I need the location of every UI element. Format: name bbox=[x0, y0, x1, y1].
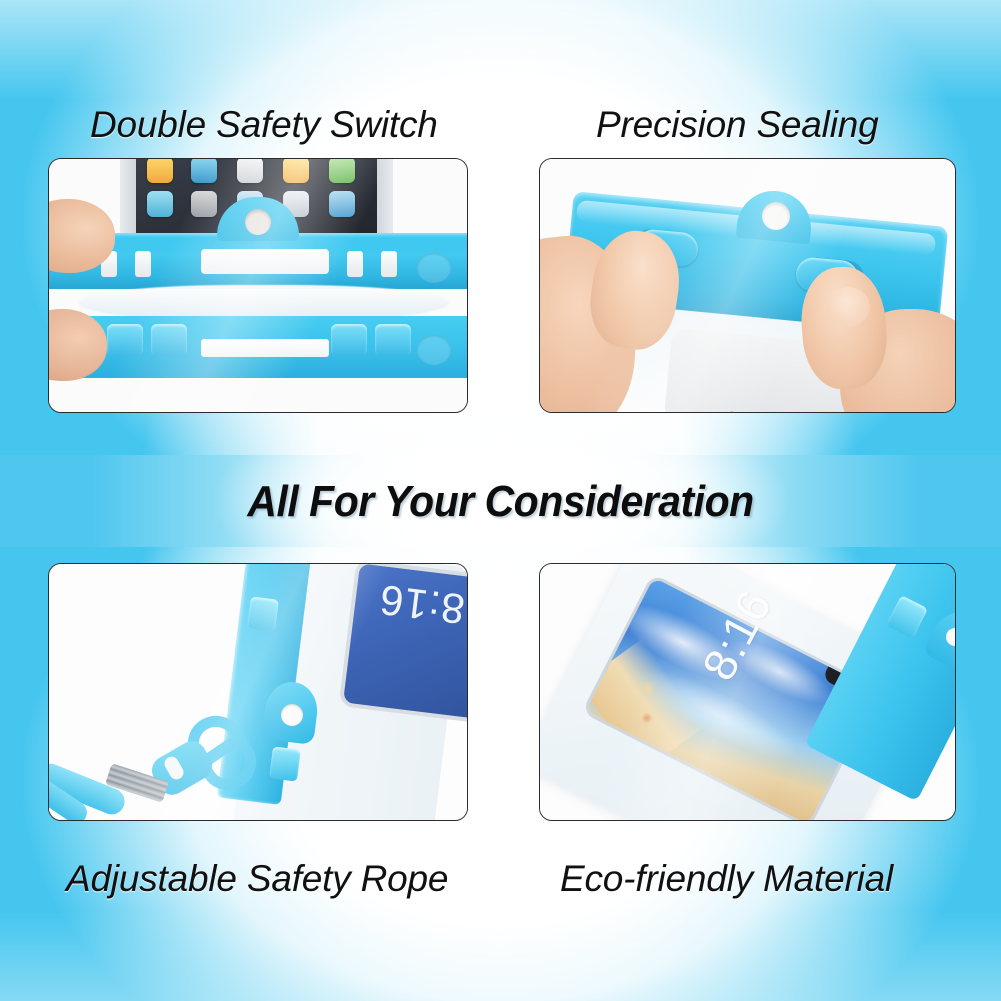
caption-precision-sealing: Precision Sealing bbox=[596, 104, 878, 146]
app-icon bbox=[329, 191, 355, 217]
app-icon bbox=[329, 159, 355, 183]
lock-notch bbox=[347, 251, 363, 277]
photo-sealed-clamp bbox=[540, 159, 955, 412]
photo-pouch-with-phone: 8:16 bbox=[540, 564, 955, 820]
caption-eco-friendly-material: Eco-friendly Material bbox=[560, 858, 893, 900]
lock-button-lower[interactable] bbox=[269, 746, 301, 781]
caption-double-safety-switch: Double Safety Switch bbox=[90, 104, 438, 146]
app-icon bbox=[147, 159, 173, 183]
safety-lock-right bbox=[331, 324, 367, 356]
safety-lock-left-2 bbox=[151, 324, 187, 356]
lock-notch bbox=[135, 251, 151, 277]
photo-panel-eco-friendly-material: 8:16 bbox=[539, 563, 956, 821]
app-icon bbox=[191, 159, 217, 183]
app-icon bbox=[283, 159, 309, 183]
photo-panel-double-safety-switch bbox=[48, 158, 468, 413]
safety-lock-left bbox=[107, 324, 143, 356]
phone-clock: 8:16 bbox=[376, 575, 467, 633]
background-bottom-veil bbox=[0, 911, 1001, 1001]
collage-page: Double Safety Switch Precision Sealing bbox=[0, 0, 1001, 1001]
hanger-hole bbox=[281, 704, 303, 726]
app-icon bbox=[147, 191, 173, 217]
app-icon bbox=[191, 191, 217, 217]
safety-lock-right-2 bbox=[375, 324, 411, 356]
upper-seal-bar bbox=[201, 249, 329, 274]
clamp-pivot-recess bbox=[417, 253, 451, 283]
photo-open-clamp bbox=[49, 159, 467, 412]
lower-seal-bar bbox=[201, 339, 329, 357]
caption-adjustable-safety-rope: Adjustable Safety Rope bbox=[66, 858, 448, 900]
lock-button-upper[interactable] bbox=[247, 596, 279, 631]
speaker-dot bbox=[730, 411, 734, 412]
lock-notch bbox=[381, 251, 397, 277]
photo-panel-precision-sealing bbox=[539, 158, 956, 413]
app-icon bbox=[237, 159, 263, 183]
photo-panel-adjustable-safety-rope: 8:16 bbox=[48, 563, 468, 821]
section-banner: All For Your Consideration bbox=[0, 455, 1001, 547]
photo-lanyard: 8:16 bbox=[49, 564, 467, 820]
background-top-veil bbox=[0, 0, 1001, 100]
clamp-pivot-recess-lower bbox=[417, 335, 451, 365]
banner-title: All For Your Consideration bbox=[35, 477, 966, 527]
hanger-hole bbox=[245, 209, 271, 235]
